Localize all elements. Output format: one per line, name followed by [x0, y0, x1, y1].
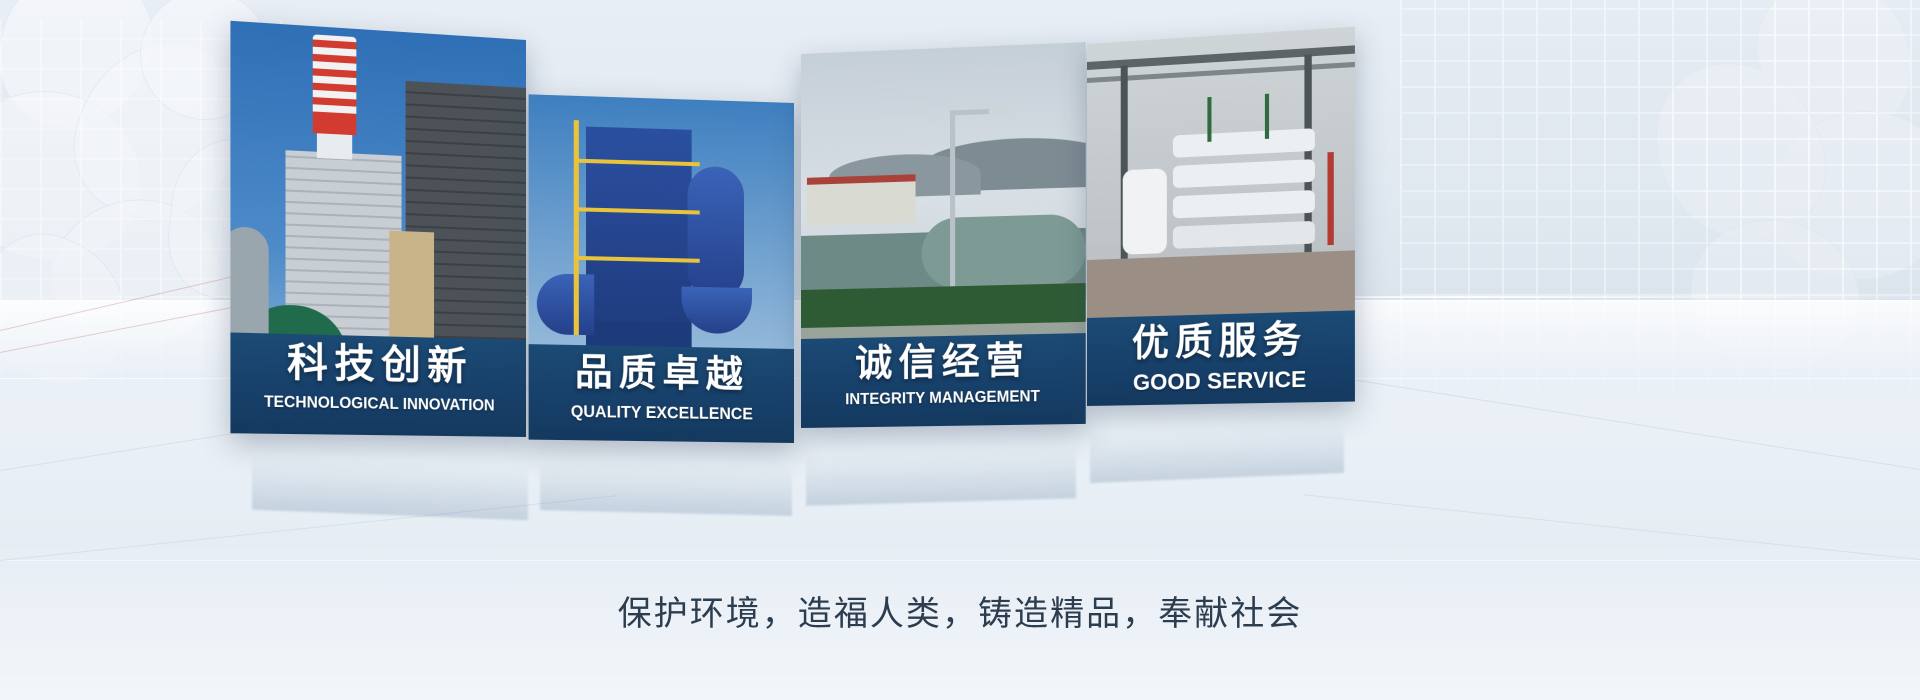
panel-title-en-3: INTEGRITY MANAGEMENT [811, 388, 1076, 409]
panel-title-zh-3: 诚信经营 [801, 340, 1086, 383]
feature-panel-quality-excellence[interactable]: 品质卓越 QUALITY EXCELLENCE [529, 94, 794, 443]
banner-tagline: 保护环境，造福人类，铸造精品，奉献社会 [0, 586, 1920, 635]
panel-title-zh-1: 科技创新 [230, 342, 526, 388]
feature-panel-technological-innovation[interactable]: 科技创新 TECHNOLOGICAL INNOVATION [230, 21, 526, 437]
panel-title-en-1: TECHNOLOGICAL INNOVATION [241, 394, 516, 415]
panel-title-en-2: QUALITY EXCELLENCE [538, 402, 785, 423]
panel-title-zh-4: 优质服务 [1087, 319, 1355, 363]
panel-caption-technological-innovation: 科技创新 TECHNOLOGICAL INNOVATION [230, 332, 526, 437]
panel-title-en-4: GOOD SERVICE [1087, 367, 1355, 395]
banner-stage: 科技创新 TECHNOLOGICAL INNOVATION 品质卓越 QUALI… [0, 0, 1920, 700]
panel-title-zh-2: 品质卓越 [529, 352, 794, 394]
panel-caption-integrity-management: 诚信经营 INTEGRITY MANAGEMENT [801, 333, 1086, 428]
panel-caption-quality-excellence: 品质卓越 QUALITY EXCELLENCE [529, 344, 794, 443]
horizon-line-3 [0, 560, 1920, 561]
panel-caption-good-service: 优质服务 GOOD SERVICE [1087, 310, 1355, 406]
feature-panel-integrity-management[interactable]: 诚信经营 INTEGRITY MANAGEMENT [801, 42, 1086, 428]
feature-panel-good-service[interactable]: 优质服务 GOOD SERVICE [1087, 27, 1355, 406]
